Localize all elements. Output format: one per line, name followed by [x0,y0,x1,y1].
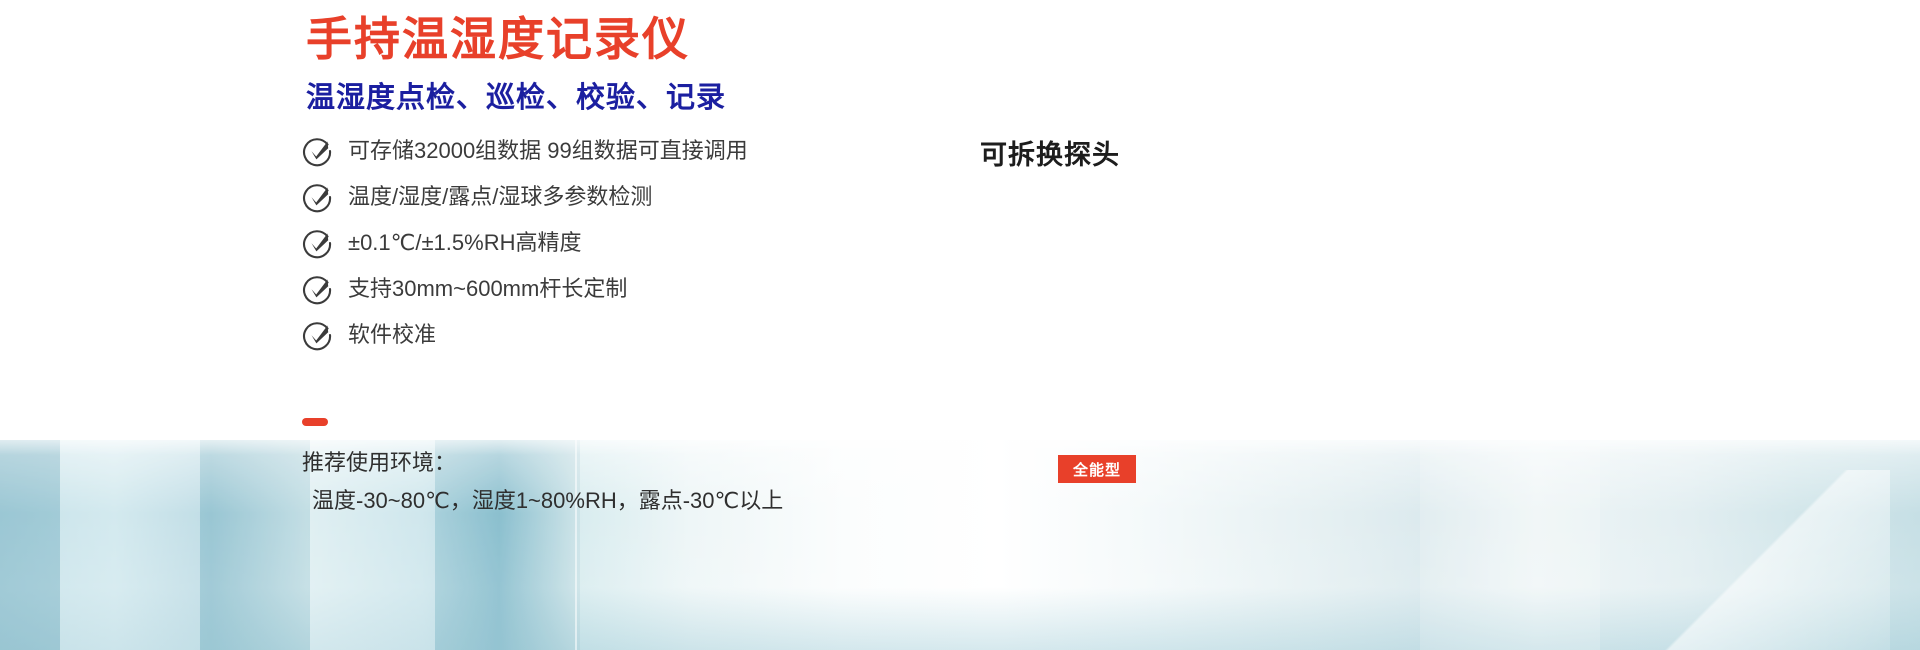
list-item: 支持30mm~600mm杆长定制 [302,266,748,312]
list-item: 软件校准 [302,312,748,358]
product-banner: 手持温湿度记录仪 温湿度点检、巡检、校验、记录 可存储32000组数据 99组数… [0,0,1920,650]
probe-label: 可拆换探头 [980,133,1120,172]
text-column: 手持温湿度记录仪 温湿度点检、巡检、校验、记录 可存储32000组数据 99组数… [0,0,960,650]
dash-marker-icon [302,418,328,426]
environment-detail: 温度-30~80℃，湿度1~80%RH，露点-30℃以上 [302,482,783,520]
environment-heading: 推荐使用环境： [302,444,783,482]
list-item-label: 温度/湿度/露点/湿球多参数检测 [348,182,652,212]
list-item: 温度/湿度/露点/湿球多参数检测 [302,174,748,220]
list-item-label: 支持30mm~600mm杆长定制 [348,274,627,304]
status-badge-label: 全能型 [1073,459,1121,480]
status-badge: 全能型 [1058,455,1136,483]
environment-section: 推荐使用环境： 温度-30~80℃，湿度1~80%RH，露点-30℃以上 [302,418,783,520]
list-item: 可存储32000组数据 99组数据可直接调用 [302,128,748,174]
product-image-area: 可拆换探头 HENGKO 52.0 % RH 28.08 ℃ HG970 [940,0,1920,650]
check-circle-icon [302,227,334,259]
page-subtitle: 温湿度点检、巡检、校验、记录 [306,80,726,116]
feature-list: 可存储32000组数据 99组数据可直接调用 温度/湿度/露点/湿球多参数检测 [302,128,748,358]
check-circle-icon [302,273,334,305]
list-item-label: 软件校准 [348,320,436,350]
check-circle-icon [302,319,334,351]
page-title: 手持温湿度记录仪 [306,12,690,66]
list-item-label: ±0.1℃/±1.5%RH高精度 [348,228,581,258]
check-circle-icon [302,181,334,213]
list-item: ±0.1℃/±1.5%RH高精度 [302,220,748,266]
check-circle-icon [302,135,334,167]
list-item-label: 可存储32000组数据 99组数据可直接调用 [348,136,748,166]
